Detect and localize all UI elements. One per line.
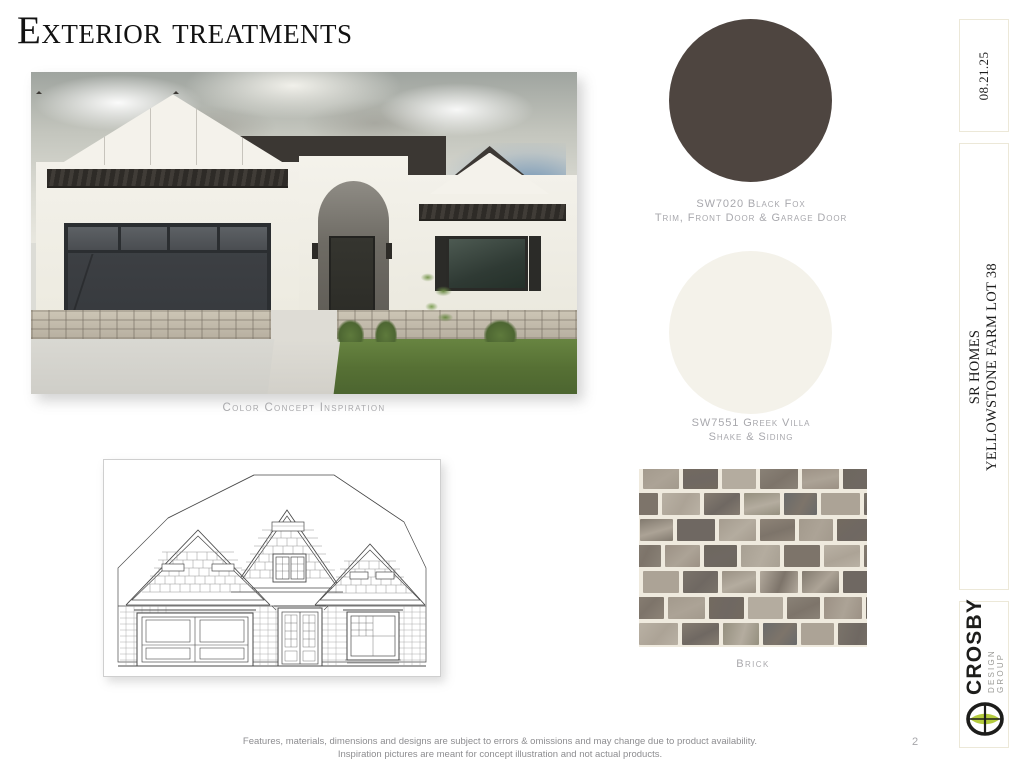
page-number: 2 xyxy=(912,736,918,748)
footer-line-2: Inspiration pictures are meant for conce… xyxy=(130,748,870,761)
brick-unit xyxy=(784,493,818,515)
sidebar-project-box: SR HOMES YELLOWSTONE FARM LOT 38 xyxy=(959,143,1009,590)
photo-shrub-b xyxy=(375,320,397,343)
brick-unit xyxy=(760,469,799,489)
photo-garage-windows xyxy=(68,227,267,252)
brick-unit xyxy=(640,519,673,541)
sidebar-lot-name: YELLOWSTONE FARM LOT 38 xyxy=(984,263,1001,471)
brick-unit xyxy=(760,571,799,593)
brick-row xyxy=(639,571,867,597)
logo-wordmark: CROSBY xyxy=(963,597,987,694)
footer-line-1: Features, materials, dimensions and desi… xyxy=(130,735,870,748)
brick-unit xyxy=(741,545,779,567)
brick-unit xyxy=(760,519,795,541)
brick-unit xyxy=(709,597,745,619)
brick-swatch xyxy=(639,469,867,647)
swatch-greek-villa-name: SW7551 Greek Villa xyxy=(601,416,901,430)
photo-left-metal-awning xyxy=(47,169,287,189)
photo-shutter-right xyxy=(529,236,541,291)
sidebar-logo-box: CROSBY DESIGN GROUP xyxy=(959,601,1009,748)
logo-tagline: DESIGN GROUP xyxy=(987,611,1005,693)
brick-unit xyxy=(864,545,867,567)
brick-unit xyxy=(719,519,756,541)
photo-sconce-left xyxy=(312,243,318,259)
brick-unit xyxy=(723,623,759,645)
elevation-drawing xyxy=(103,459,441,677)
photo-shrub-a xyxy=(337,320,364,343)
brick-unit xyxy=(838,623,867,645)
brick-unit xyxy=(639,545,661,567)
photo-right-metal-awning xyxy=(419,204,566,220)
brick-row xyxy=(639,469,867,493)
brick-unit xyxy=(683,571,718,593)
brick-unit xyxy=(787,597,820,619)
brick-unit xyxy=(662,493,700,515)
sidebar-date: 08.21.25 xyxy=(976,51,992,100)
elevation-svg xyxy=(104,460,440,676)
brick-unit xyxy=(843,469,867,489)
photo-sconce-right xyxy=(386,243,392,259)
brick-row xyxy=(639,623,867,647)
swatch-label-black-fox: SW7020 Black Fox Trim, Front Door & Gara… xyxy=(601,197,901,225)
brick-unit xyxy=(837,519,867,541)
photo-left-gable-roof-b xyxy=(173,88,179,94)
sidebar-builder-name: SR HOMES xyxy=(967,263,984,471)
brick-unit xyxy=(763,623,797,645)
photo-left-gable-roof-a xyxy=(36,88,42,94)
photo-shrub-c xyxy=(484,320,517,343)
brick-unit xyxy=(744,493,779,515)
brick-unit xyxy=(682,623,719,645)
house-photo-illustration xyxy=(31,72,577,394)
brick-unit xyxy=(802,469,839,489)
brick-unit xyxy=(639,493,658,515)
brick-row xyxy=(639,493,867,519)
swatch-greek-villa xyxy=(669,251,832,414)
photo-tree xyxy=(413,262,462,339)
brick-unit xyxy=(639,597,664,619)
brick-row xyxy=(639,545,867,571)
sidebar-date-box: 08.21.25 xyxy=(959,19,1009,132)
brick-unit xyxy=(722,571,755,593)
brick-unit xyxy=(665,545,700,567)
brick-unit xyxy=(824,597,862,619)
inspiration-photo xyxy=(31,72,577,394)
photo-entry-steps xyxy=(271,310,337,339)
swatch-black-fox-name: SW7020 Black Fox xyxy=(601,197,901,211)
brick-unit xyxy=(821,493,860,515)
brick-row xyxy=(639,597,867,623)
crosby-design-group-logo: CROSBY DESIGN GROUP xyxy=(961,611,1007,739)
brick-unit xyxy=(668,597,705,619)
brick-unit xyxy=(864,493,867,515)
brick-unit xyxy=(643,571,679,593)
brick-unit xyxy=(704,493,741,515)
brick-unit xyxy=(866,597,867,619)
page-title: Exterior treatments xyxy=(17,11,353,52)
brick-caption: Brick xyxy=(639,658,867,670)
sidebar-project: SR HOMES YELLOWSTONE FARM LOT 38 xyxy=(967,263,1001,471)
brick-unit xyxy=(802,571,839,593)
swatch-label-greek-villa: SW7551 Greek Villa Shake & Siding xyxy=(601,416,901,444)
crosby-emblem-icon xyxy=(964,699,1004,739)
brick-unit xyxy=(801,623,834,645)
brick-unit xyxy=(799,519,833,541)
brick-unit xyxy=(639,623,678,645)
brick-unit xyxy=(677,519,715,541)
brick-unit xyxy=(704,545,737,567)
inspiration-photo-caption: Color Concept Inspiration xyxy=(31,402,577,414)
brick-unit xyxy=(722,469,756,489)
photo-walkway xyxy=(268,339,340,394)
brick-unit xyxy=(683,469,718,489)
brick-unit xyxy=(843,571,867,593)
brick-unit xyxy=(748,597,782,619)
swatch-black-fox xyxy=(669,19,832,182)
photo-driveway xyxy=(31,339,288,394)
brick-row xyxy=(639,519,867,545)
brick-unit xyxy=(784,545,821,567)
footer-disclaimer: Features, materials, dimensions and desi… xyxy=(130,735,870,761)
swatch-greek-villa-usage: Shake & Siding xyxy=(601,430,901,444)
swatch-black-fox-usage: Trim, Front Door & Garage Door xyxy=(601,211,901,225)
brick-unit xyxy=(643,469,679,489)
brick-unit xyxy=(824,545,859,567)
